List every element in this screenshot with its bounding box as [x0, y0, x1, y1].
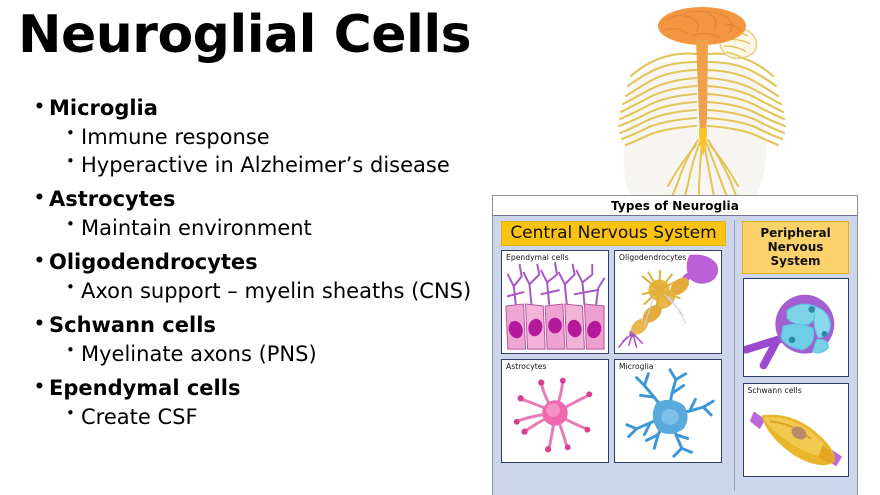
cell-box-oligodendrocyte: Oligodendrocytes: [614, 250, 722, 354]
brain-shape: [658, 7, 746, 45]
bullet-level2-immune-response: • Immune response: [28, 124, 498, 151]
diagram-title: Types of Neuroglia: [611, 199, 739, 213]
bullet-level2-label: Immune response: [81, 125, 270, 149]
cilia-processes: [508, 263, 604, 304]
bullet-dot-icon: •: [66, 152, 75, 172]
cell-label-schwann: Schwann cells: [748, 386, 802, 395]
cell-box-satellite: [743, 278, 849, 377]
bullet-level2-label: Maintain environment: [81, 216, 312, 240]
cell-box-astrocyte: Astrocytes: [501, 359, 609, 463]
cell-box-ependymal: Ependymal cells: [501, 250, 609, 354]
oligodendrocyte-art: [615, 251, 721, 353]
cell-label-oligodendrocyte: Oligodendrocytes: [619, 253, 686, 262]
bullet-group-ependymal-cells: • Ependymal cells • Create CSF: [28, 375, 498, 431]
satellite-cells-art: [744, 279, 848, 376]
bullet-dot-icon: •: [66, 278, 75, 298]
schwann-cell-art: [744, 384, 848, 476]
pns-band-line-3: System: [745, 254, 846, 268]
bullet-dot-icon: •: [66, 124, 75, 144]
bullet-level1-astrocytes: • Astrocytes: [28, 186, 498, 214]
bullet-group-microglia: • Microglia • Immune response • Hyperact…: [28, 95, 498, 179]
astrocyte-nucleus: [546, 403, 560, 417]
pns-section: Peripheral Nervous System: [735, 220, 851, 491]
diagram-body: Central Nervous System Ependymal cells: [493, 216, 857, 495]
bullet-dot-icon: •: [66, 341, 75, 361]
bullet-group-astrocytes: • Astrocytes • Maintain environment: [28, 186, 498, 242]
bullet-dot-icon: •: [66, 215, 75, 235]
bullet-level2-create-csf: • Create CSF: [28, 404, 498, 431]
bullet-group-schwann-cells: • Schwann cells • Myelinate axons (PNS): [28, 312, 498, 368]
nervous-system-svg: [596, 0, 866, 196]
cell-box-schwann: Schwann cells: [743, 383, 849, 477]
astrocyte-art: [502, 360, 608, 462]
bullet-group-oligodendrocytes: • Oligodendrocytes • Axon support – myel…: [28, 249, 498, 305]
pns-band-line-2: Nervous: [745, 240, 846, 254]
page-title: Neuroglial Cells: [18, 8, 471, 63]
neuron-soma: [687, 255, 718, 284]
bullet-level2-myelinate-axons: • Myelinate axons (PNS): [28, 341, 498, 368]
bullet-level1-label: Microglia: [49, 96, 158, 120]
bullet-level1-label: Astrocytes: [49, 187, 176, 211]
bullet-level1-schwann-cells: • Schwann cells: [28, 312, 498, 340]
cell-box-microglia: Microglia: [614, 359, 722, 463]
types-of-neuroglia-diagram: Types of Neuroglia Central Nervous Syste…: [492, 195, 858, 495]
bullet-dot-icon: •: [66, 404, 75, 424]
pns-band-label: Peripheral Nervous System: [742, 221, 849, 274]
bullet-level1-label: Oligodendrocytes: [49, 250, 258, 274]
bullet-dot-icon: •: [34, 313, 45, 335]
bullet-level1-label: Ependymal cells: [49, 376, 240, 400]
pns-band-line-1: Peripheral: [745, 226, 846, 240]
bullet-level2-label: Create CSF: [81, 405, 198, 429]
cell-label-ependymal: Ependymal cells: [506, 253, 569, 262]
bullet-level1-label: Schwann cells: [49, 313, 216, 337]
nervous-system-illustration: [596, 0, 866, 196]
bullet-dot-icon: •: [34, 187, 45, 209]
bullet-level1-microglia: • Microglia: [28, 95, 498, 123]
cns-cell-grid: Ependymal cells: [497, 250, 730, 463]
bullet-level2-axon-support: • Axon support – myelin sheaths (CNS): [28, 278, 498, 305]
bullet-level2-hyperactive-alzheimers: • Hyperactive in Alzheimer’s disease: [28, 152, 498, 179]
bullet-level1-ependymal-cells: • Ependymal cells: [28, 375, 498, 403]
cns-band-label: Central Nervous System: [501, 221, 726, 246]
satellite-cell-facets: [781, 305, 830, 354]
microglia-art: [615, 360, 721, 462]
axon-terminals: [619, 333, 643, 347]
ependymal-cells-art: [502, 251, 608, 353]
microglia-nucleus: [661, 409, 679, 425]
bullet-dot-icon: •: [34, 96, 45, 118]
bullet-level2-label: Axon support – myelin sheaths (CNS): [81, 279, 471, 303]
bullet-level1-oligodendrocytes: • Oligodendrocytes: [28, 249, 498, 277]
bullet-level2-label: Myelinate axons (PNS): [81, 342, 317, 366]
bullet-level2-maintain-environment: • Maintain environment: [28, 215, 498, 242]
diagram-title-bar: Types of Neuroglia: [493, 196, 857, 216]
bullet-dot-icon: •: [34, 376, 45, 398]
cns-section: Central Nervous System Ependymal cells: [497, 220, 735, 491]
bullet-dot-icon: •: [34, 250, 45, 272]
cell-label-astrocyte: Astrocytes: [506, 362, 547, 371]
cell-label-microglia: Microglia: [619, 362, 654, 371]
bullet-level2-label: Hyperactive in Alzheimer’s disease: [81, 153, 450, 177]
bullet-list: • Microglia • Immune response • Hyperact…: [28, 88, 498, 434]
